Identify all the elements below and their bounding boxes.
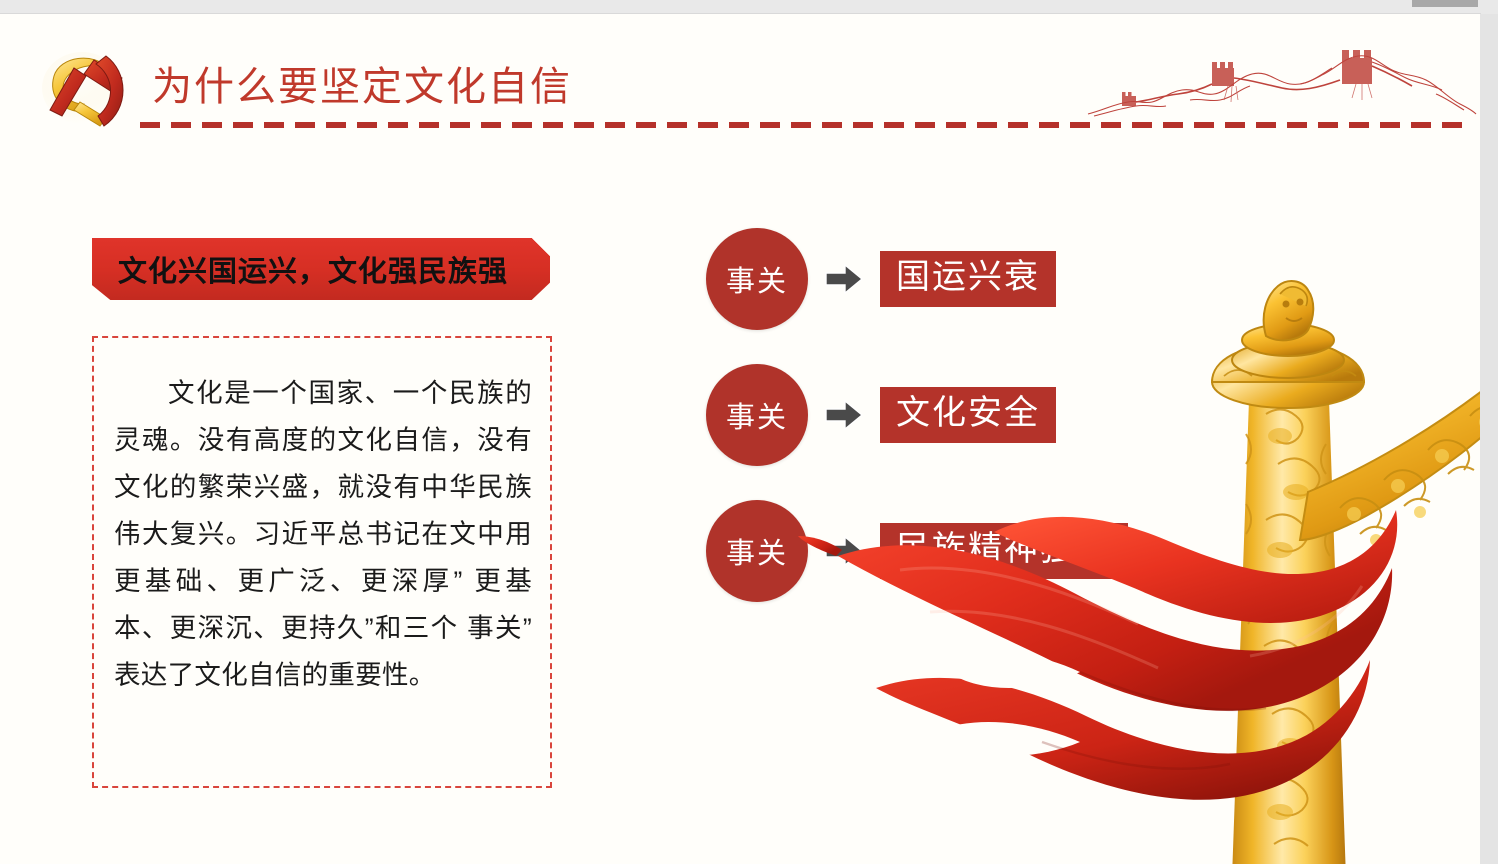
key-points-list: 事关 国运兴衰 事关 文化安全 事关 bbox=[706, 228, 1176, 636]
description-paragraph: 文化是一个国家、一个民族的灵魂。没有高度的文化自信，没有文化的繁荣兴盛，就没有中… bbox=[114, 370, 532, 699]
key-point-circle-badge[interactable]: 事关 bbox=[706, 500, 808, 602]
key-point-row: 事关 文化安全 bbox=[706, 364, 1176, 466]
key-point-tag[interactable]: 国运兴衰 bbox=[880, 251, 1056, 307]
page-title: 为什么要坚定文化自信 bbox=[152, 58, 572, 116]
description-box: 文化是一个国家、一个民族的灵魂。没有高度的文化自信，没有文化的繁荣兴盛，就没有中… bbox=[92, 336, 552, 788]
right-edge-strip bbox=[1480, 14, 1498, 864]
arrow-right-icon bbox=[824, 262, 864, 296]
slide-header: 为什么要坚定文化自信 bbox=[0, 14, 1480, 140]
slide-canvas-wrapper: 为什么要坚定文化自信 bbox=[0, 0, 1498, 864]
key-point-row: 事关 国运兴衰 bbox=[706, 228, 1176, 330]
section-banner-label: 文化兴国运兴，文化强民族强 bbox=[92, 248, 508, 290]
great-wall-illustration-icon bbox=[1086, 40, 1478, 126]
key-point-circle-badge[interactable]: 事关 bbox=[706, 364, 808, 466]
slide: 为什么要坚定文化自信 bbox=[0, 14, 1480, 864]
key-point-row: 事关 民族精神独立 bbox=[706, 500, 1176, 602]
key-point-tag[interactable]: 文化安全 bbox=[880, 387, 1056, 443]
section-banner: 文化兴国运兴，文化强民族强 bbox=[92, 238, 550, 300]
key-point-circle-badge[interactable]: 事关 bbox=[706, 228, 808, 330]
key-point-tag[interactable]: 民族精神独立 bbox=[880, 523, 1128, 579]
party-emblem-hammer-sickle-icon bbox=[36, 46, 142, 134]
arrow-right-icon bbox=[824, 534, 864, 568]
arrow-right-icon bbox=[824, 398, 864, 432]
left-content-column: 文化兴国运兴，文化强民族强 文化是一个国家、一个民族的灵魂。没有高度的文化自信，… bbox=[92, 238, 560, 300]
top-scrollbar-thumb[interactable] bbox=[1412, 0, 1478, 7]
top-scrollbar-rail[interactable] bbox=[0, 0, 1498, 14]
